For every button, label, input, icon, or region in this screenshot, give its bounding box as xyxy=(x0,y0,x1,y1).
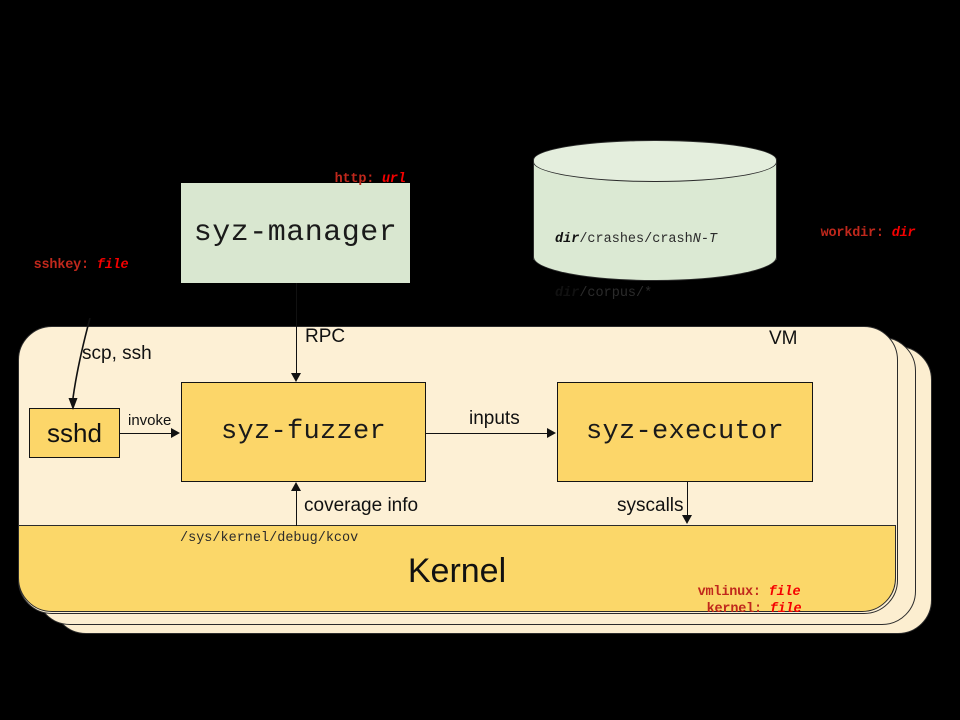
cylinder-top-ellipse xyxy=(533,140,777,182)
node-workdir-store[interactable]: dir/crashes/crashN-T dir/corpus/* xyxy=(533,140,777,280)
diagram-canvas: syz-manager http: url sshkey: file dir/c… xyxy=(0,0,960,720)
annotation-sshkey-key: sshkey: xyxy=(34,258,89,273)
sshd-label: sshd xyxy=(47,418,102,449)
edge-inputs-line xyxy=(426,433,548,434)
annotation-http-key: http: xyxy=(335,172,375,187)
edge-inputs-label: inputs xyxy=(469,408,520,430)
edge-coverage-line xyxy=(296,490,297,526)
edge-coverage-label: coverage info xyxy=(304,495,418,517)
annotation-http: http: url xyxy=(303,157,406,202)
node-syz-executor[interactable]: syz-executor xyxy=(557,382,813,482)
workdir-path-corpus: dir/corpus/* xyxy=(555,285,717,303)
syz-manager-label: syz-manager xyxy=(194,216,398,250)
edge-syscalls-label: syscalls xyxy=(617,495,684,517)
annotation-sshkey-value: file xyxy=(97,258,129,273)
syz-fuzzer-label: syz-fuzzer xyxy=(221,417,386,447)
workdir-path-crashes: dir/crashes/crashN-T xyxy=(555,231,717,249)
kcov-path-label: /sys/kernel/debug/kcov xyxy=(180,531,358,546)
annotation-kernel-key: kernel: xyxy=(707,602,762,617)
edge-scp-ssh-arrow xyxy=(50,318,110,418)
workdir-dir-token-1: dir xyxy=(555,232,579,247)
vm-label: VM xyxy=(769,328,798,350)
edge-invoke-arrowhead xyxy=(171,428,180,438)
workdir-path-rest-2: /corpus/* xyxy=(579,286,652,301)
edge-invoke-label: invoke xyxy=(128,412,171,429)
edge-coverage-arrowhead xyxy=(291,482,301,491)
annotation-http-value: url xyxy=(382,172,406,187)
workdir-path-tail-1: -T xyxy=(701,232,717,247)
workdir-dir-token-2: dir xyxy=(555,286,579,301)
edge-rpc-arrowhead xyxy=(291,373,301,382)
annotation-workdir-key: workdir: xyxy=(821,226,884,241)
annotation-kernel: kernel: file xyxy=(675,584,801,635)
edge-invoke-line xyxy=(120,433,173,434)
edge-syscalls-line xyxy=(687,482,688,516)
workdir-paths: dir/crashes/crashN-T dir/corpus/* xyxy=(555,195,717,339)
annotation-sshkey: sshkey: file xyxy=(2,243,128,288)
syz-executor-label: syz-executor xyxy=(586,417,784,447)
edge-rpc-line xyxy=(296,283,297,375)
edge-scp-ssh-label: scp, ssh xyxy=(82,343,152,365)
node-syz-fuzzer[interactable]: syz-fuzzer xyxy=(181,382,426,482)
workdir-path-var-1: N xyxy=(693,232,701,247)
edge-rpc-label: RPC xyxy=(305,326,345,348)
edge-inputs-arrowhead xyxy=(547,428,556,438)
workdir-path-rest-1: /crashes/crash xyxy=(579,232,692,247)
annotation-workdir: workdir: dir xyxy=(789,211,915,256)
annotation-kernel-value: file xyxy=(770,602,802,617)
annotation-workdir-value: dir xyxy=(892,226,916,241)
